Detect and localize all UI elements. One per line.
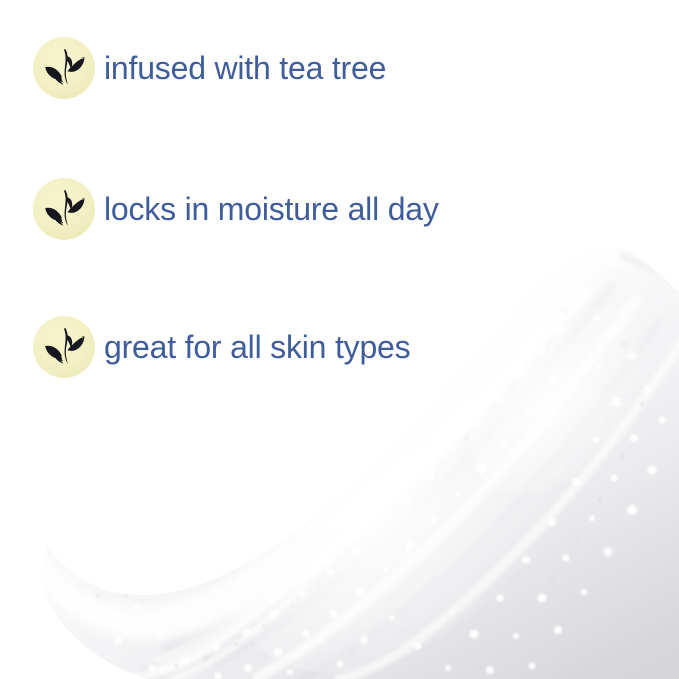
feature-item-great-for-all-skin-types: great for all skin types (33, 316, 410, 378)
tea-leaf-icon (33, 178, 95, 240)
feature-label: locks in moisture all day (104, 193, 439, 225)
feature-label: great for all skin types (104, 331, 410, 363)
feature-item-infused-with-tea-tree: infused with tea tree (33, 37, 386, 99)
tea-leaf-icon (33, 37, 95, 99)
feature-item-locks-in-moisture-all-day: locks in moisture all day (33, 178, 439, 240)
tea-leaf-icon (33, 316, 95, 378)
product-feature-graphic: infused with tea tree loc (0, 0, 679, 679)
feature-label: infused with tea tree (104, 52, 386, 84)
